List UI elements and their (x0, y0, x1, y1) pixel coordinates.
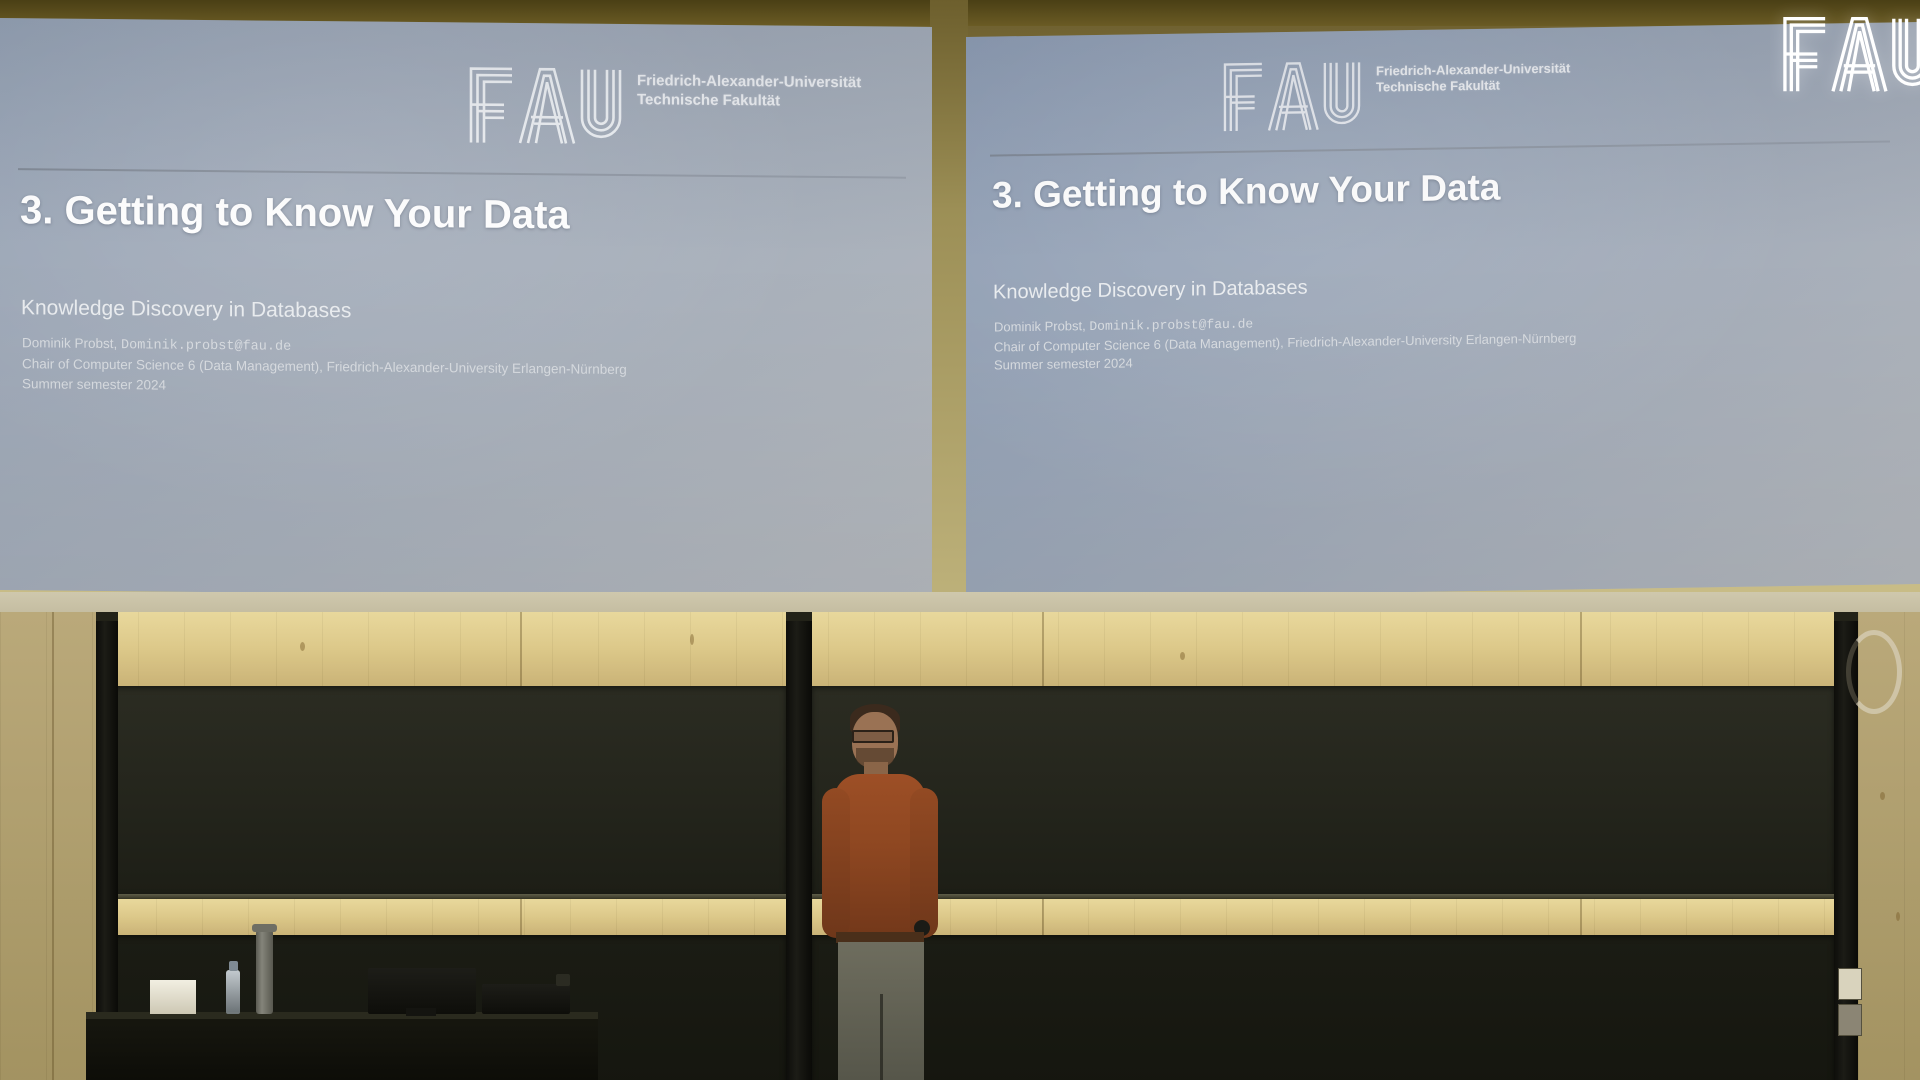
slide-title: 3. Getting to Know Your Data (992, 167, 1500, 217)
podium-equipment[interactable] (482, 984, 570, 1014)
chalkboard-lower-right (812, 935, 1834, 1080)
slide-title: 3. Getting to Know Your Data (20, 188, 570, 238)
fau-logo-line1: Friedrich-Alexander-Universität (637, 72, 861, 93)
post-left (96, 612, 118, 1080)
water-bottle (226, 970, 240, 1014)
wood-seam (52, 612, 54, 1080)
fau-logo: Friedrich-Alexander-Universität Technisc… (468, 64, 861, 148)
wood-strip-mid-right (812, 899, 1834, 935)
monitor-stand (406, 1008, 436, 1016)
lecture-hall-lower (0, 612, 1920, 1080)
wood-knot (1180, 652, 1185, 660)
cylinder-top (252, 924, 277, 932)
right-projection-screen[interactable]: Friedrich-Alexander-Universität Technisc… (966, 22, 1920, 599)
slide-subtitle: Knowledge Discovery in Databases (993, 277, 1308, 305)
wood-knot (1896, 912, 1900, 921)
cylindrical-device (256, 930, 273, 1014)
screen-gap-wall (930, 0, 968, 600)
wood-wall-upper (0, 612, 1920, 686)
chalkboard-upper-left (110, 686, 786, 894)
slide-subtitle: Knowledge Discovery in Databases (21, 296, 351, 323)
post-cap (1834, 612, 1858, 621)
lecture-hall-scene: Friedrich-Alexander-Universität Technisc… (0, 0, 1920, 1080)
right-slide-content: Friedrich-Alexander-Universität Technisc… (966, 22, 1920, 599)
post-cap (96, 612, 118, 621)
wood-seam (1042, 899, 1044, 935)
wood-seam (520, 899, 522, 935)
slide-metadata: Dominik Probst, Dominik.probst@fau.de Ch… (22, 333, 627, 399)
cable-hook (1846, 630, 1902, 714)
fau-logo-mark (1222, 59, 1362, 133)
wood-knot (690, 634, 694, 645)
fau-logo-line2: Technische Fakultät (637, 91, 861, 112)
lecturer (800, 704, 940, 1080)
lecture-podium[interactable] (86, 1016, 598, 1080)
post-cap (786, 612, 812, 621)
slide-divider-rule (990, 140, 1890, 156)
wood-knot (300, 642, 305, 651)
wood-seam (1580, 899, 1582, 935)
author-name: Dominik Probst, (994, 318, 1086, 334)
wood-seam (1042, 612, 1044, 686)
fau-watermark-mark (1782, 8, 1920, 100)
left-projection-screen[interactable]: Friedrich-Alexander-Universität Technisc… (0, 18, 932, 599)
wood-strip-mid-left (110, 899, 786, 935)
fau-logo-subtitle: Friedrich-Alexander-Universität Technisc… (1376, 55, 1570, 95)
author-email: Dominik.probst@fau.de (121, 338, 291, 355)
paper-stack (150, 980, 196, 1014)
podium-small-device (556, 974, 570, 986)
chalkboard-upper-right (812, 686, 1834, 894)
author-email: Dominik.probst@fau.de (1089, 316, 1253, 334)
slide-divider-rule (18, 168, 906, 179)
lecturer-arm-right (910, 788, 938, 938)
wall-outlet-upper[interactable] (1838, 968, 1862, 1000)
fau-watermark-logo (1782, 8, 1920, 105)
fau-logo-line2: Technische Fakultät (1376, 77, 1570, 96)
lecturer-glasses (852, 730, 894, 743)
wood-column-left (0, 612, 96, 1080)
fau-logo-mark (468, 64, 623, 145)
bottle-cap (229, 961, 238, 971)
wood-seam (520, 612, 522, 686)
fau-logo-subtitle: Friedrich-Alexander-Universität Technisc… (637, 66, 861, 111)
left-slide-content: Friedrich-Alexander-Universität Technisc… (0, 18, 932, 599)
fau-logo-line1: Friedrich-Alexander-Universität (1376, 60, 1570, 79)
author-name: Dominik Probst, (22, 335, 117, 351)
wood-seam (1580, 612, 1582, 686)
fau-logo: Friedrich-Alexander-Universität Technisc… (1222, 55, 1570, 132)
wall-outlet-lower[interactable] (1838, 1004, 1862, 1036)
slide-metadata: Dominik Probst, Dominik.probst@fau.de Ch… (994, 309, 1576, 375)
lecturer-leg-gap (880, 994, 883, 1080)
wood-knot (1880, 792, 1885, 800)
lecturer-arm-left (822, 788, 850, 938)
